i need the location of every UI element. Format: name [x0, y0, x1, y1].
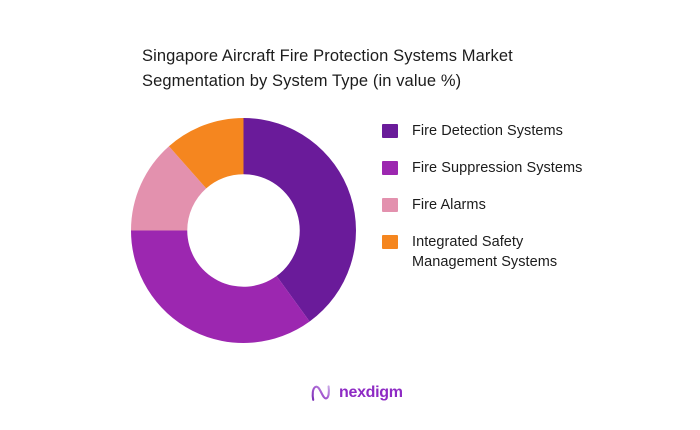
- brand-logo: nexdigm: [310, 382, 403, 404]
- chart-legend: Fire Detection SystemsFire Suppression S…: [382, 121, 622, 272]
- donut-slice[interactable]: [131, 231, 310, 344]
- legend-swatch-icon: [382, 124, 398, 138]
- donut-chart: [131, 118, 356, 343]
- legend-item-label: Integrated Safety Management Systems: [412, 232, 612, 272]
- nexdigm-n-mark-icon: [310, 383, 332, 403]
- legend-swatch-icon: [382, 235, 398, 249]
- donut-chart-svg: [131, 118, 356, 343]
- page-title: Singapore Aircraft Fire Protection Syste…: [142, 44, 612, 94]
- donut-slice-group: [131, 118, 356, 343]
- legend-swatch-icon: [382, 198, 398, 212]
- legend-item[interactable]: Fire Suppression Systems: [382, 158, 622, 178]
- legend-item[interactable]: Integrated Safety Management Systems: [382, 232, 622, 272]
- chart-page: Singapore Aircraft Fire Protection Syste…: [0, 0, 700, 430]
- brand-wordmark: nexdigm: [339, 383, 403, 403]
- legend-swatch-icon: [382, 161, 398, 175]
- legend-item-label: Fire Alarms: [412, 195, 486, 215]
- legend-item-label: Fire Suppression Systems: [412, 158, 582, 178]
- legend-item-label: Fire Detection Systems: [412, 121, 563, 141]
- legend-item[interactable]: Fire Alarms: [382, 195, 622, 215]
- legend-item[interactable]: Fire Detection Systems: [382, 121, 622, 141]
